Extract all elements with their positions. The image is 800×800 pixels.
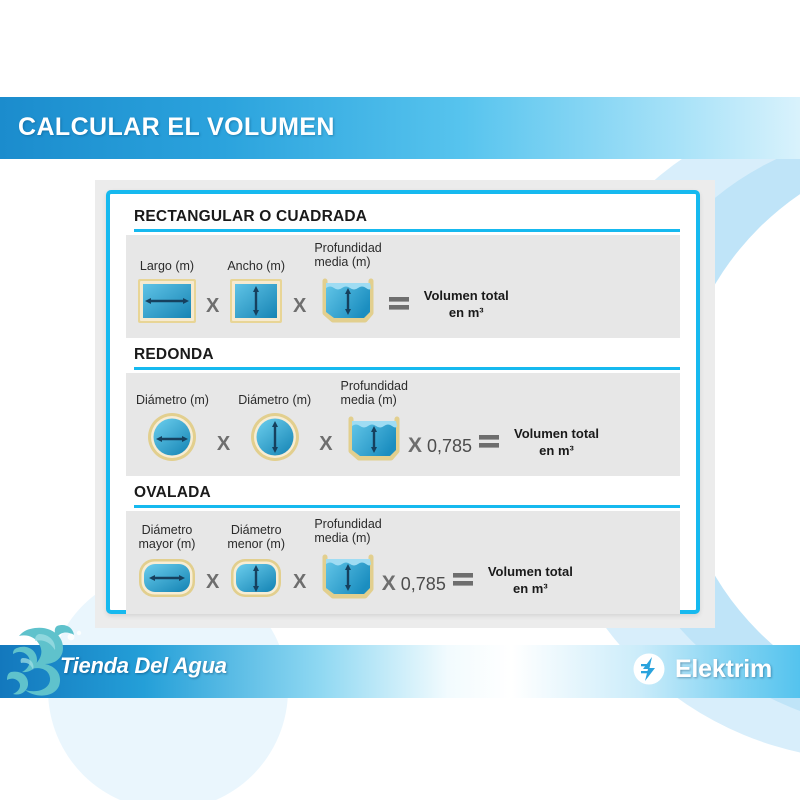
constant-factor: X 0,785	[408, 434, 472, 468]
pool-oval-vertical-icon	[228, 555, 284, 606]
equals-sign	[382, 295, 420, 330]
formula-row: Diámetro mayor (m)	[126, 511, 680, 614]
term-label: Diámetro menor (m)	[227, 523, 285, 551]
term-diametro-mayor: Diámetro mayor (m)	[136, 523, 198, 606]
pool-depth-section-icon	[343, 411, 405, 468]
term-label: Profundidad media (m)	[314, 241, 381, 269]
elektrim-bolt-circle-icon	[632, 652, 666, 686]
term-diametro-menor: Diámetro menor (m)	[227, 523, 285, 606]
term-label: Diámetro (m)	[136, 393, 209, 407]
footer-brand-tienda-del-agua[interactable]: Tienda Del Agua	[60, 653, 227, 679]
section-title: RECTANGULAR O CUADRADA	[126, 208, 680, 229]
footer-brand-elektrim[interactable]: Elektrim	[632, 652, 772, 686]
operator-multiply: X	[198, 295, 227, 330]
operator-multiply: X	[285, 571, 314, 606]
section-divider	[134, 229, 680, 232]
section-divider	[134, 505, 680, 508]
result-line-1: Volumen total	[488, 564, 573, 581]
term-largo: Largo (m)	[136, 259, 198, 330]
pool-rectangle-vertical-icon	[228, 277, 284, 330]
term-label: Largo (m)	[140, 259, 194, 273]
constant-value: 0,785	[401, 574, 446, 595]
pool-circle-horizontal-icon	[143, 411, 201, 468]
formula-row: Largo (m)	[126, 235, 680, 338]
operator-multiply: X	[408, 434, 422, 458]
term-diametro-2: Diámetro (m)	[238, 393, 311, 468]
operator-multiply: X	[198, 571, 227, 606]
content-card: RECTANGULAR O CUADRADA Largo (m)	[106, 190, 700, 614]
term-profundidad: Profundidad media (m)	[314, 517, 381, 606]
operator-multiply: X	[209, 433, 238, 468]
pool-depth-section-icon	[317, 549, 379, 606]
infographic-canvas: CALCULAR EL VOLUMEN RECTANGULAR O CUADRA…	[0, 0, 800, 800]
result-label: Volumen total en m³	[424, 288, 509, 330]
operator-multiply: X	[285, 295, 314, 330]
elektrim-wordmark: Elektrim	[675, 655, 772, 684]
equals-sign	[472, 433, 510, 468]
pool-oval-horizontal-icon	[136, 555, 198, 606]
result-line-1: Volumen total	[514, 426, 599, 443]
result-line-1: Volumen total	[424, 288, 509, 305]
term-label: Diámetro (m)	[238, 393, 311, 407]
constant-value: 0,785	[427, 436, 472, 457]
operator-multiply: X	[311, 433, 340, 468]
section-title: REDONDA	[126, 346, 680, 367]
constant-factor: X 0,785	[382, 572, 446, 606]
result-label: Volumen total en m³	[514, 426, 599, 468]
term-profundidad: Profundidad media (m)	[314, 241, 381, 330]
pool-depth-section-icon	[317, 273, 379, 330]
equals-sign	[446, 571, 484, 606]
term-label: Diámetro mayor (m)	[139, 523, 196, 551]
term-profundidad: Profundidad media (m)	[341, 379, 408, 468]
operator-multiply: X	[382, 572, 396, 596]
section-ovalada: OVALADA Diámetro mayor (m)	[126, 484, 680, 614]
term-diametro: Diámetro (m)	[136, 393, 209, 468]
pool-rectangle-horizontal-icon	[136, 277, 198, 330]
section-divider	[134, 367, 680, 370]
result-line-2: en m³	[488, 581, 573, 598]
result-label: Volumen total en m³	[488, 564, 573, 606]
result-line-2: en m³	[424, 305, 509, 322]
term-label: Profundidad media (m)	[314, 517, 381, 545]
result-line-2: en m³	[514, 443, 599, 460]
section-title: OVALADA	[126, 484, 680, 505]
formula-row: Diámetro (m)	[126, 373, 680, 476]
page-title: CALCULAR EL VOLUMEN	[18, 113, 335, 142]
term-label: Profundidad media (m)	[341, 379, 408, 407]
section-redonda: REDONDA Diámetro (m)	[126, 346, 680, 476]
term-ancho: Ancho (m)	[227, 259, 285, 330]
pool-circle-vertical-icon	[246, 411, 304, 468]
section-rectangular: RECTANGULAR O CUADRADA Largo (m)	[126, 208, 680, 338]
term-label: Ancho (m)	[227, 259, 285, 273]
